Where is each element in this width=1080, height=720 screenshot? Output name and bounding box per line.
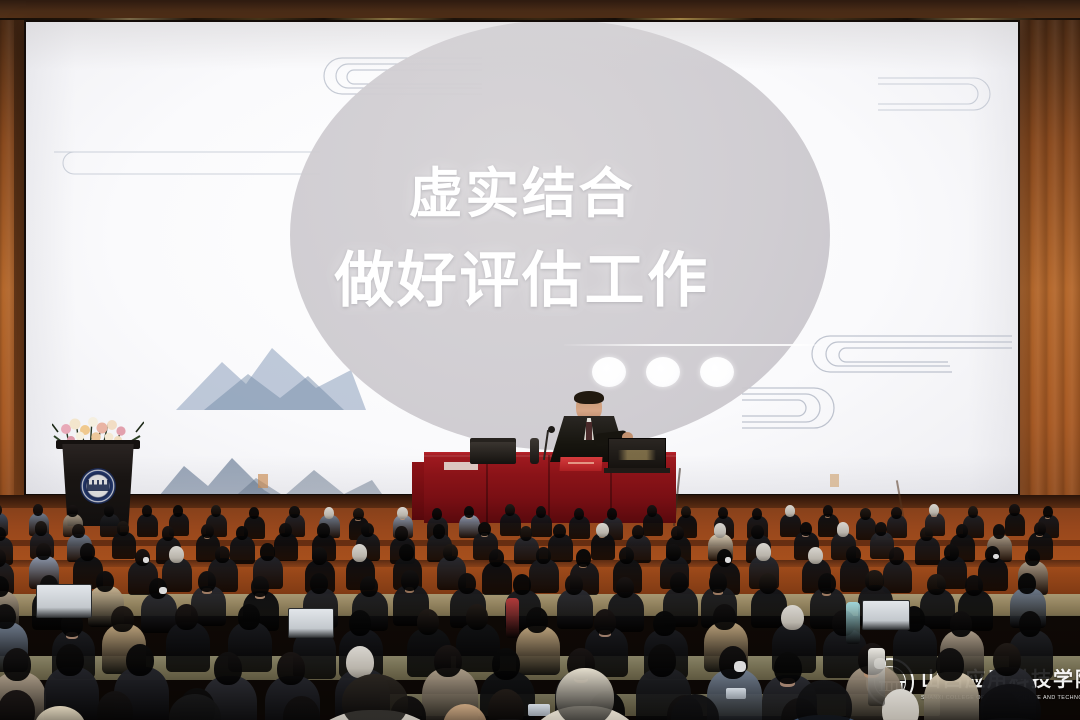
audience-member-head <box>169 546 184 563</box>
audience-member-head <box>714 523 726 537</box>
audience-member-head <box>249 507 259 519</box>
audience-member-head <box>1043 506 1053 518</box>
audience-member-head <box>818 573 836 594</box>
audience-member-head <box>236 526 248 540</box>
audience-member-head <box>279 523 291 537</box>
cloud-pattern-icon <box>742 374 1018 444</box>
audience-member-head <box>596 523 608 537</box>
audience-member <box>569 516 589 539</box>
audience-member-head <box>317 523 329 537</box>
audience-member-head <box>277 652 305 684</box>
slide-dot-row <box>592 352 752 392</box>
audience-member-head <box>632 525 644 539</box>
audience-member-head <box>1025 549 1040 566</box>
audience-member-head <box>653 611 675 637</box>
audience-member-head <box>361 523 373 537</box>
audience-member-head <box>478 522 490 536</box>
audience-member-head <box>349 610 371 636</box>
audience-member-head <box>443 544 458 561</box>
audience-member-head <box>1018 573 1036 594</box>
audience-member-head <box>929 504 939 516</box>
audience-laptop <box>288 608 334 638</box>
audience-member <box>230 536 254 564</box>
audience-member-head <box>759 573 777 594</box>
audience-member-head <box>67 505 77 517</box>
audience-member-head <box>526 607 548 633</box>
audience-member-head <box>860 508 870 520</box>
audience-member-head <box>666 544 681 561</box>
audience-member-head <box>865 570 883 591</box>
audience-member-head <box>607 508 617 520</box>
audience-member-head <box>505 504 515 516</box>
audience-member-head <box>619 547 634 564</box>
presenter-tie <box>586 422 592 440</box>
audience-member-head <box>574 508 584 520</box>
audience-member-head <box>489 549 504 566</box>
slide-dot <box>646 357 680 387</box>
slide-dot <box>700 357 734 387</box>
audience-member <box>529 559 559 592</box>
audience-member-head <box>310 573 328 594</box>
audience-member-head <box>968 506 978 518</box>
audience-member-head <box>965 575 983 596</box>
audience-member-head <box>936 648 964 680</box>
audience-member-head <box>111 606 133 632</box>
wall-outlet <box>258 474 268 488</box>
audience-laptop <box>862 600 910 630</box>
slide-title: 虚实结合 做好评估工作 <box>26 156 1018 324</box>
audience-member-head <box>117 521 129 535</box>
audience-member <box>643 513 663 536</box>
audience-member-head <box>324 507 334 519</box>
audience-member-head <box>80 543 95 560</box>
desk-equipment-box <box>470 442 516 464</box>
audience-member-head <box>536 547 551 564</box>
audience-member-head <box>173 505 183 517</box>
audience-member-head <box>215 546 230 563</box>
audience-member-head <box>96 571 114 592</box>
presenter-hair <box>574 391 604 404</box>
audience-member-head <box>458 573 476 594</box>
audience-member-head <box>198 571 216 592</box>
audience-member-head <box>346 646 374 678</box>
audience-member-head <box>352 544 367 561</box>
audience-member-head <box>126 644 154 676</box>
audience-member-head <box>752 508 762 520</box>
desk-tumbler <box>530 438 539 464</box>
audience-front-row-head <box>556 668 613 720</box>
audience-member <box>166 622 210 671</box>
audience-member-head <box>713 604 735 630</box>
audience-phone <box>726 688 746 699</box>
audience-member-head <box>993 524 1005 538</box>
audience-member-head <box>401 570 419 591</box>
laptop-lid-logo <box>618 450 656 460</box>
audience-member-head <box>846 546 861 563</box>
audience-member-head <box>920 527 932 541</box>
audience-member-head <box>175 604 197 630</box>
audience-member-head <box>434 645 462 677</box>
audience-member-head <box>35 521 47 535</box>
audience-member-head <box>395 526 407 540</box>
audience-member-head <box>927 574 945 595</box>
audience-member-head <box>891 507 901 519</box>
audience-member-head <box>397 507 407 519</box>
audience-member-head <box>956 524 968 538</box>
audience-member <box>516 626 560 675</box>
audience-member-head <box>201 524 213 538</box>
red-booklet-title-line <box>568 462 594 464</box>
audience-member-head <box>536 506 546 518</box>
audience-member <box>500 513 520 536</box>
audience-member-head <box>774 652 802 684</box>
audience-member-head <box>360 576 378 597</box>
audience-member-head <box>808 547 823 564</box>
audience-member-head <box>513 574 531 595</box>
audience-member-head <box>260 543 275 560</box>
audience-water-bottle <box>846 602 860 644</box>
audience-member-head <box>709 572 727 593</box>
audience-member-head <box>785 505 795 517</box>
audience-member <box>915 537 939 565</box>
audience-member-head <box>238 604 260 630</box>
audience-member <box>137 514 157 537</box>
ink-mountain-icon <box>222 460 392 498</box>
audience-member-head <box>993 643 1021 675</box>
audience-member-head <box>211 505 221 517</box>
audience-member-head <box>889 547 904 564</box>
audience-member <box>112 532 136 560</box>
audience-member-head <box>594 609 616 635</box>
audience-member-head <box>433 524 445 538</box>
audience-member-head <box>553 524 565 538</box>
audience-member <box>557 589 593 629</box>
audience-member <box>893 624 937 673</box>
audience-face-mask <box>159 587 167 594</box>
photo-scene: 虚实结合 做好评估工作 <box>0 0 1080 720</box>
audience-member <box>274 533 298 561</box>
audience-member-head <box>312 547 327 564</box>
audience-laptop <box>36 584 92 618</box>
audience-member-head <box>492 648 520 680</box>
audience-member-head <box>251 576 269 597</box>
audience-member-head <box>671 526 683 540</box>
audience-member <box>548 534 572 562</box>
audience-member-head <box>823 505 833 517</box>
audience-member-head <box>616 577 634 598</box>
audience-member-head <box>670 572 688 593</box>
audience-member <box>531 514 551 537</box>
audience-member-head <box>565 574 583 595</box>
audience-member-head <box>289 506 299 518</box>
desk-microphone-icon <box>548 426 555 433</box>
audience-member-head <box>1009 504 1019 516</box>
audience-member-head <box>751 525 763 539</box>
audience-water-bottle <box>506 598 519 638</box>
audience-member-head <box>944 544 959 561</box>
audience-face-mask <box>734 661 746 672</box>
wall-outlet <box>830 474 839 487</box>
audience-member-head <box>162 526 174 540</box>
audience-member-head <box>399 544 414 561</box>
audience-member-head <box>781 605 803 631</box>
audience-member-head <box>1034 522 1046 536</box>
audience-face-mask <box>143 557 149 563</box>
audience-thermos <box>868 648 885 706</box>
audience-member-head <box>72 524 84 538</box>
red-booklet <box>560 457 603 471</box>
audience-member-head <box>1019 611 1041 637</box>
audience-member <box>482 562 512 595</box>
audience-member-head <box>576 549 591 566</box>
audience-member-head <box>3 648 31 680</box>
audience-member-head <box>647 505 657 517</box>
cloud-pattern-icon <box>878 66 1018 126</box>
audience-front-row-head <box>342 674 408 720</box>
slide-title-line-1: 虚实结合 <box>26 156 1018 233</box>
audience-member-head <box>466 604 488 630</box>
audience-member <box>1005 513 1025 536</box>
audience-front-row-head <box>796 680 852 720</box>
slide-divider <box>564 344 822 346</box>
slide-title-line-2: 做好评估工作 <box>26 239 1018 324</box>
audience-member-head <box>142 505 152 517</box>
audience-member-head <box>214 652 242 684</box>
audience-member-head <box>950 611 972 637</box>
projection-screen: 虚实结合 做好评估工作 <box>26 22 1018 498</box>
audience-member-head <box>432 508 442 520</box>
audience-member-head <box>837 522 849 536</box>
audience-member-head <box>464 506 474 518</box>
audience-member-head <box>56 644 84 676</box>
audience-member-head <box>36 543 51 560</box>
audience-member-head <box>353 508 363 520</box>
slide-dot <box>592 357 626 387</box>
audience-member-head <box>648 644 676 676</box>
audience-member-head <box>875 522 887 536</box>
audience-member-head <box>756 543 771 560</box>
audience-member-head <box>520 526 532 540</box>
audience-member-head <box>800 522 812 536</box>
audience-member-head <box>33 504 43 516</box>
audience-member-head <box>104 505 114 517</box>
presenter-laptop-base <box>604 468 670 473</box>
audience-member-head <box>417 609 439 635</box>
